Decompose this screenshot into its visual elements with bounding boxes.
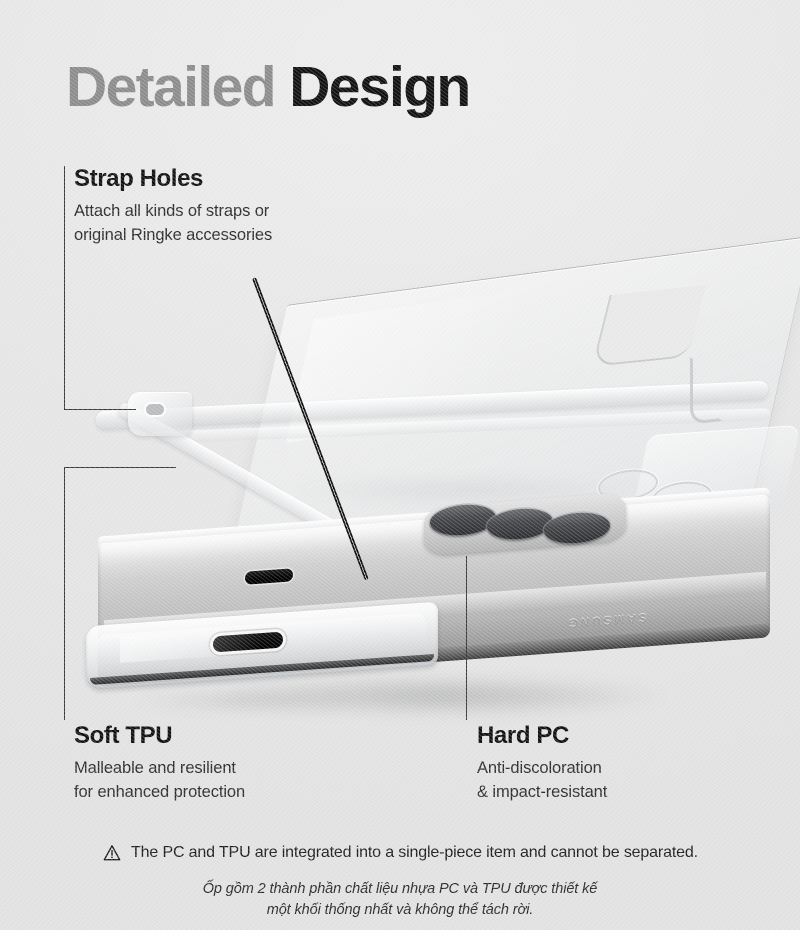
leader-line-tpu-horizontal xyxy=(64,467,176,468)
leader-line-pc-vertical xyxy=(466,556,467,720)
leader-line-strap-vertical xyxy=(64,166,65,410)
strap-hole-icon xyxy=(146,404,164,415)
shell-hook-cutout xyxy=(690,353,722,425)
product-illustration: SAMSUNG xyxy=(0,0,800,930)
leader-line-tpu-vertical xyxy=(64,467,65,720)
product-detail-graphic: SAMSUNG Detailed Design Strap Holes Atta… xyxy=(0,0,800,930)
leader-line-strap-horizontal xyxy=(64,409,136,410)
shadow-tpu xyxy=(80,686,410,716)
